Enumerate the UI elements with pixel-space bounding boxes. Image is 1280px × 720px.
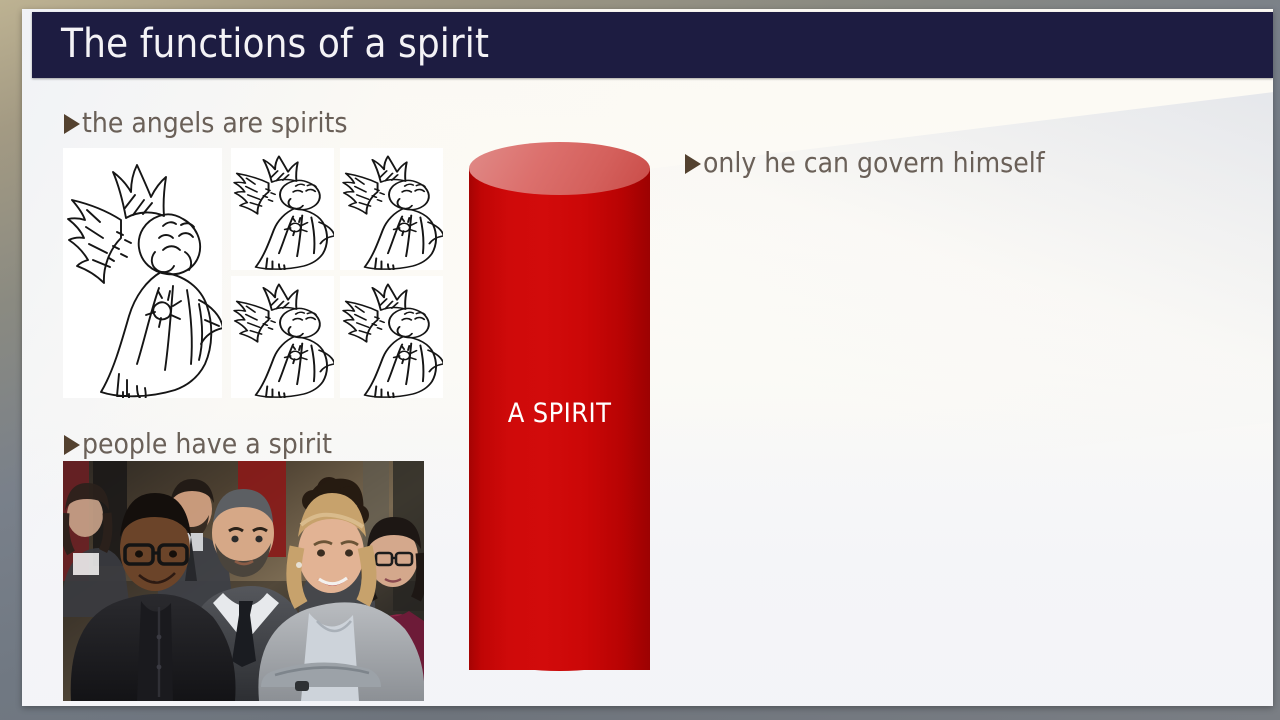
- angel-line-art-icon: [340, 148, 443, 270]
- cylinder-top-ellipse: [469, 142, 650, 195]
- triangle-bullet-icon: [685, 154, 701, 174]
- business-group-photo: [63, 461, 424, 701]
- angel-image-small-2: [340, 148, 443, 270]
- angel-image-large: [63, 148, 222, 398]
- bullet-only-he-can-govern-himself: only he can govern himself: [685, 146, 1045, 179]
- bullet-people-have-a-spirit: people have a spirit: [64, 427, 332, 460]
- triangle-bullet-icon: [64, 435, 80, 455]
- bullet-label: the angels are spirits: [82, 106, 348, 139]
- angel-line-art-icon: [231, 148, 334, 270]
- angel-line-art-icon: [63, 148, 222, 398]
- spirit-cylinder: A SPIRIT: [469, 142, 650, 696]
- angel-image-strip: [63, 148, 423, 398]
- cylinder-label: A SPIRIT: [469, 398, 650, 429]
- triangle-bullet-icon: [64, 114, 80, 134]
- bullet-the-angels-are-spirits: the angels are spirits: [64, 106, 348, 139]
- business-group-photo-illustration: [63, 461, 424, 701]
- title-bar: The functions of a spirit: [32, 12, 1273, 78]
- bullet-label: only he can govern himself: [703, 146, 1045, 179]
- slide-frame: The functions of a spirit the angels are…: [0, 0, 1280, 720]
- angel-image-small-1: [231, 148, 334, 270]
- slide-canvas: The functions of a spirit the angels are…: [22, 9, 1273, 706]
- angel-image-small-4: [340, 276, 443, 398]
- angel-line-art-icon: [340, 276, 443, 398]
- page-title: The functions of a spirit: [61, 21, 489, 67]
- angel-image-small-3: [231, 276, 334, 398]
- angel-line-art-icon: [231, 276, 334, 398]
- bullet-label: people have a spirit: [82, 427, 332, 460]
